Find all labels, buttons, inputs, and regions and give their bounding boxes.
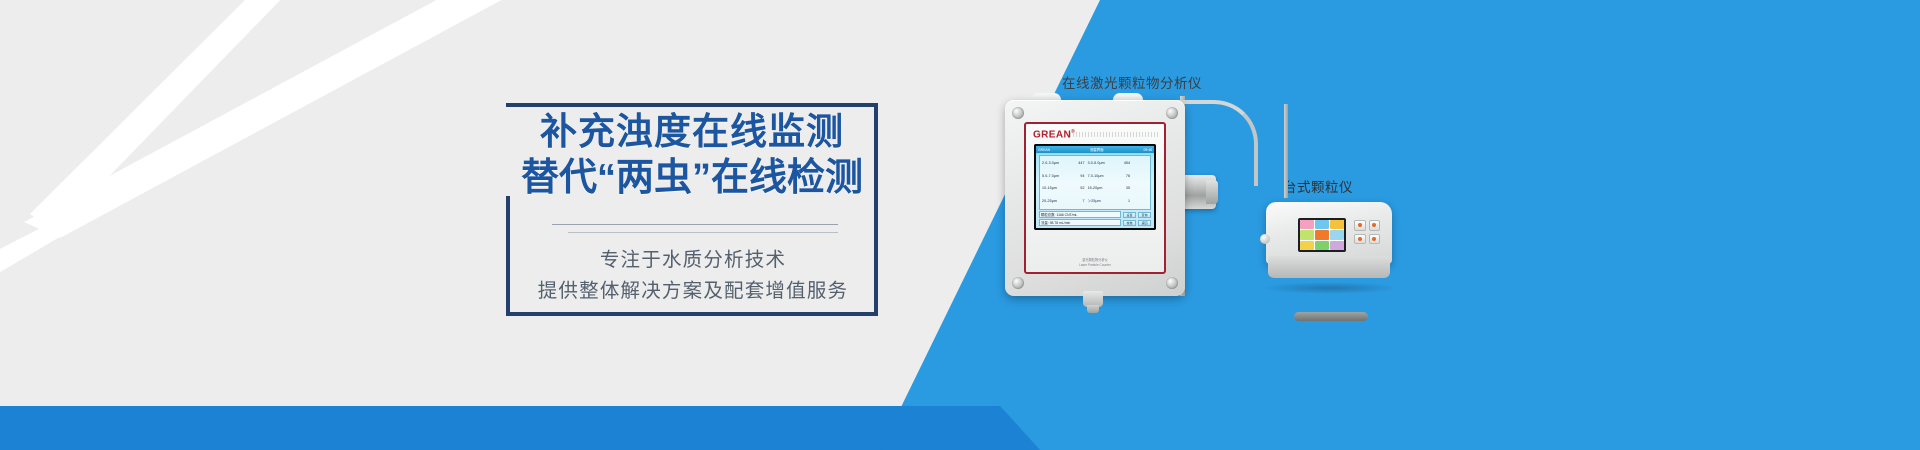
brand-text: GREAN: [1033, 129, 1071, 140]
table-row: 2.0-3.0μm 447 3.0-5.0μm 454: [1042, 161, 1148, 165]
range-b: ＞25μm: [1088, 199, 1116, 204]
analyzer-front-panel: GREAN® GREAN 测量界面 09:48 2.0-3.0μm: [1024, 122, 1166, 274]
value-b: 76: [1115, 174, 1133, 178]
enclosure-screw-bottom-left: [1012, 277, 1024, 289]
lcd-button-back[interactable]: 返回: [1138, 220, 1151, 226]
lcd-screen-content: GREAN 测量界面 09:48 2.0-3.0μm 447 3.0-5.0μm…: [1036, 146, 1154, 228]
keypad-button[interactable]: [1369, 234, 1381, 245]
bench-base-plate: [1268, 256, 1390, 278]
banner-root: 补充浊度在线监测 替代“两虫”在线检测 专注于水质分析技术 提供整体解决方案及配…: [0, 0, 1920, 450]
bench-keypad[interactable]: [1354, 220, 1380, 244]
value-b: 1: [1115, 199, 1133, 204]
lcd-header-right: 09:48: [1144, 148, 1153, 152]
lcd-display[interactable]: GREAN 测量界面 09:48 2.0-3.0μm 447 3.0-5.0μm…: [1034, 144, 1156, 230]
bench-side-knob: [1260, 234, 1270, 244]
keypad-button[interactable]: [1369, 220, 1381, 231]
online-laser-particle-analyzer: GREAN® GREAN 测量界面 09:48 2.0-3.0μm: [1005, 100, 1185, 296]
range-a: 2.0-3.0μm: [1042, 161, 1070, 165]
tile[interactable]: [1315, 220, 1329, 229]
tile[interactable]: [1300, 241, 1314, 250]
tile[interactable]: [1300, 230, 1314, 239]
keypad-button[interactable]: [1354, 234, 1366, 245]
bench-particle-counter: [1266, 196, 1392, 288]
blue-bottom-band: [0, 406, 1040, 450]
value-b: 35: [1115, 186, 1133, 190]
divider-rule-lower: [568, 232, 838, 233]
bench-screen-tiles: [1300, 220, 1344, 250]
bench-shadow: [1262, 282, 1398, 294]
label-bench-counter: 台式颗粒仪: [1283, 176, 1353, 196]
subtitle-line-1: 专注于水质分析技术: [450, 245, 936, 276]
enclosure-screw-top-right: [1166, 107, 1178, 119]
table-row: 20-25μm 7 ＞25μm 1: [1042, 199, 1148, 204]
lcd-status-row-2: 流量: 98.78 mL/min 校准 返回: [1039, 219, 1151, 226]
vent-grille-icon: [1070, 132, 1158, 137]
value-a: 94: [1070, 174, 1088, 178]
background-shapes: [0, 0, 1920, 450]
headline-panel: 补充浊度在线监测 替代“两虫”在线检测 专注于水质分析技术 提供整体解决方案及配…: [506, 103, 878, 316]
range-b: 7.0-10μm: [1088, 174, 1116, 178]
subtitle-line-2: 提供整体解决方案及配套增值服务: [450, 276, 936, 307]
divider-rule-upper: [552, 224, 838, 225]
tile[interactable]: [1330, 241, 1344, 250]
status-line-2: 流量: 98.78 mL/min: [1039, 219, 1121, 226]
range-a: 10-15μm: [1042, 186, 1070, 190]
flow-sensor-cap: [1206, 180, 1218, 204]
lcd-status-row-1: 颗粒总数: 1166 CNT/mL 设置 查询: [1039, 211, 1151, 218]
table-row: 5.0-7.0μm 94 7.0-10μm 76: [1042, 174, 1148, 178]
lcd-status-area: 颗粒总数: 1166 CNT/mL 设置 查询 流量: 98.78 mL/min…: [1039, 211, 1151, 226]
enclosure-screw-bottom-right: [1166, 277, 1178, 289]
lcd-button-calibrate[interactable]: 校准: [1123, 220, 1136, 226]
range-a: 20-25μm: [1042, 199, 1070, 204]
tile[interactable]: [1315, 230, 1329, 239]
range-a: 5.0-7.0μm: [1042, 174, 1070, 178]
cable-gland-nut: [1087, 305, 1099, 313]
range-b: 3.0-5.0μm: [1088, 161, 1116, 165]
table-row: 10-15μm 52 15-20μm 35: [1042, 186, 1148, 190]
bench-touchscreen[interactable]: [1298, 218, 1346, 252]
enclosure-screw-top-left: [1012, 107, 1024, 119]
tile[interactable]: [1330, 230, 1344, 239]
value-a: 447: [1070, 161, 1088, 165]
lcd-header-left: GREAN: [1038, 148, 1050, 152]
panel-border-bottom: [506, 312, 878, 316]
subtitle: 专注于水质分析技术 提供整体解决方案及配套增值服务: [450, 245, 936, 307]
lcd-title-bar: GREAN 测量界面 09:48: [1036, 146, 1154, 153]
lcd-button-query[interactable]: 查询: [1138, 212, 1151, 218]
range-b: 15-20μm: [1088, 186, 1116, 190]
sample-tray-slot: [1294, 312, 1368, 321]
analyzer-nameplate: 激光颗粒物分析仪 Laser Particle Counter: [1026, 258, 1164, 267]
bench-housing: [1266, 202, 1392, 264]
headline-line-2: 替代“两虫”在线检测: [434, 155, 950, 201]
nameplate-en: Laser Particle Counter: [1026, 263, 1164, 267]
tile[interactable]: [1315, 241, 1329, 250]
value-a: 52: [1070, 186, 1088, 190]
bench-stand-post: [1284, 104, 1288, 198]
status-line-1: 颗粒总数: 1166 CNT/mL: [1039, 211, 1121, 218]
value-b: 454: [1115, 161, 1133, 165]
tile[interactable]: [1330, 220, 1344, 229]
analyzer-enclosure: GREAN® GREAN 测量界面 09:48 2.0-3.0μm: [1005, 100, 1185, 296]
lcd-header-center: 测量界面: [1090, 147, 1104, 152]
value-a: 7: [1070, 199, 1088, 204]
lcd-button-settings[interactable]: 设置: [1123, 212, 1136, 218]
panel-border-top: [506, 103, 878, 107]
keypad-button[interactable]: [1354, 220, 1366, 231]
brand-logo: GREAN®: [1033, 129, 1075, 140]
headline: 补充浊度在线监测 替代“两虫”在线检测: [434, 109, 950, 201]
headline-line-1: 补充浊度在线监测: [540, 111, 844, 152]
particle-size-table: 2.0-3.0μm 447 3.0-5.0μm 454 5.0-7.0μm 94…: [1039, 155, 1151, 210]
label-online-analyzer: 在线激光颗粒物分析仪: [1062, 72, 1202, 92]
tile[interactable]: [1300, 220, 1314, 229]
